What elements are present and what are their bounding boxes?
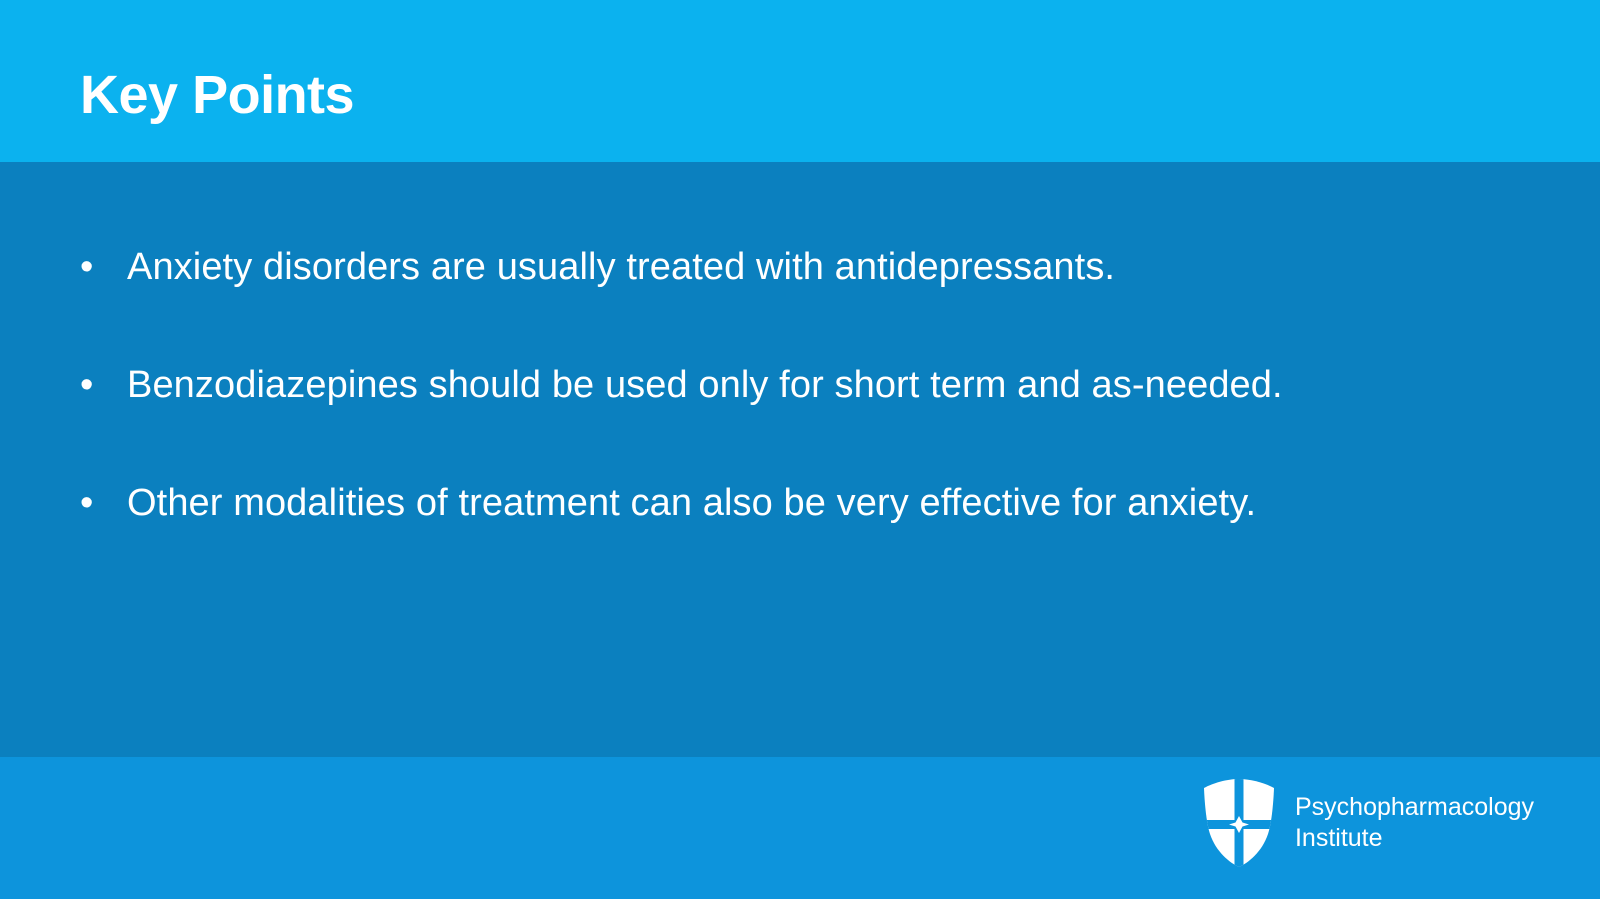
content-band: • Anxiety disorders are usually treated …	[0, 162, 1600, 757]
bullet-point-icon: •	[80, 240, 127, 294]
bullet-point-icon: •	[80, 358, 127, 412]
list-item-text: Anxiety disorders are usually treated wi…	[127, 240, 1600, 294]
shield-icon	[1201, 777, 1277, 869]
slide: Key Points • Anxiety disorders are usual…	[0, 0, 1600, 899]
brand-name-line-2: Institute	[1295, 823, 1534, 854]
list-item: • Anxiety disorders are usually treated …	[0, 240, 1600, 358]
list-item: • Benzodiazepines should be used only fo…	[0, 358, 1600, 476]
brand-logo: Psychopharmacology Institute	[1201, 777, 1534, 869]
list-item: • Other modalities of treatment can also…	[0, 476, 1600, 594]
brand-name-line-1: Psychopharmacology	[1295, 792, 1534, 823]
key-points-list: • Anxiety disorders are usually treated …	[0, 240, 1600, 594]
page-title: Key Points	[80, 68, 354, 122]
header-band: Key Points	[0, 0, 1600, 162]
brand-name: Psychopharmacology Institute	[1295, 792, 1534, 854]
bullet-point-icon: •	[80, 476, 127, 530]
footer-band: Psychopharmacology Institute	[0, 757, 1600, 899]
list-item-text: Benzodiazepines should be used only for …	[127, 358, 1600, 412]
list-item-text: Other modalities of treatment can also b…	[127, 476, 1600, 530]
